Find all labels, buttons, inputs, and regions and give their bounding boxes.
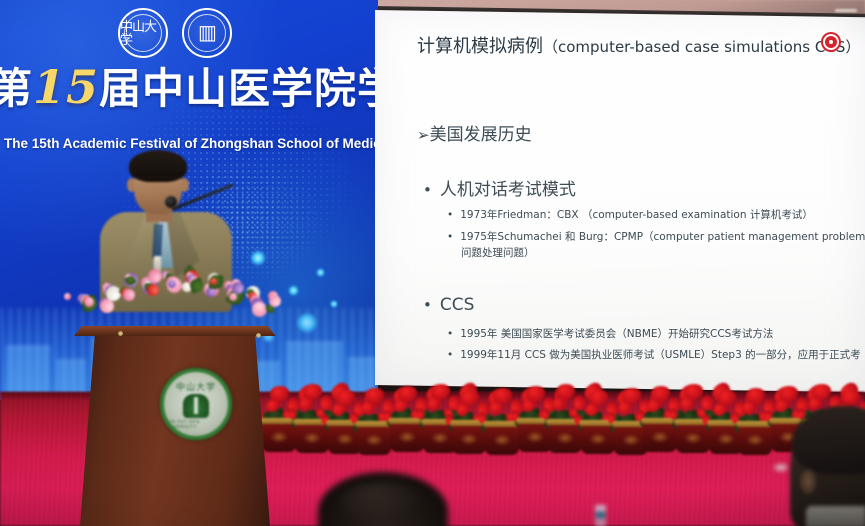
flower-pot	[390, 422, 424, 452]
microphone-head-icon	[165, 196, 177, 208]
conference-photo-scene: 中山大学 ▥ 第15届中山医学院学术节 The 15th Academic Fe…	[0, 0, 865, 526]
podium-flower-arrangement	[60, 243, 280, 338]
poinsettia-bloom	[398, 385, 418, 402]
bullet-marker: ➢	[417, 126, 430, 144]
slide-bullet-level3: •1995年 美国国家医学考试委员会（NBME）开始研究CCS考试方法	[447, 326, 773, 341]
podium-university-emblem-icon: 中山大学 SUN YAT-SEN UNIVERSITY	[160, 368, 232, 440]
seal-glyph: ▥	[184, 10, 230, 56]
water-bottle	[595, 505, 606, 526]
flower-pot	[485, 425, 519, 455]
bullet-marker: •	[423, 296, 432, 314]
banner-logo-row: 中山大学 ▥	[118, 8, 232, 58]
poinsettia-bloom	[431, 383, 451, 400]
audience-right-collar	[806, 506, 865, 526]
poinsettia-bloom	[526, 385, 546, 402]
bullet-marker: •	[447, 328, 453, 340]
bullet-marker: •	[447, 231, 453, 243]
podium-flower	[64, 293, 71, 300]
audience-head-right-ear	[800, 470, 816, 494]
banner-title-prefix: 第	[0, 64, 33, 113]
poinsettia-bloom	[746, 387, 766, 404]
flower-pot	[676, 423, 710, 453]
poinsettia-bloom	[555, 383, 575, 400]
banner-title: 第15届中山医学院学术节	[0, 55, 370, 116]
emblem-cn-text: 中山大学	[176, 380, 216, 393]
banner-title-number: 15	[33, 60, 99, 114]
poinsettia-bloom	[288, 409, 296, 420]
poinsettia-bloom	[541, 409, 549, 420]
poinsettia-bloom	[650, 385, 670, 402]
poinsettia-bloom	[841, 389, 861, 406]
flower-pot	[357, 425, 391, 455]
poinsettia-bloom	[365, 387, 385, 404]
poinsettia-bloom	[493, 387, 513, 404]
poinsettia-bloom	[269, 385, 289, 402]
presentation-slide: 计算机模拟病例（computer-based case simulations …	[375, 10, 865, 392]
frame-highlight	[835, 9, 857, 12]
foreground-object	[773, 463, 789, 472]
poinsettia-bloom	[588, 389, 608, 406]
slide-title-en: （computer-based case simulations CCS）	[543, 38, 860, 56]
poinsettia-bloom	[811, 383, 831, 400]
bullet-text: 1975年Schumachei 和 Burg：CPMP（computer pat…	[460, 231, 865, 243]
speaker-glasses	[133, 177, 183, 188]
flower-pot	[643, 422, 677, 452]
slide-bullet-continuation: 问题处理问题）	[461, 245, 535, 260]
slide-bullet-level2: •人机对话考试模式	[423, 175, 576, 200]
poinsettia-bloom	[683, 383, 703, 400]
flower-pot	[738, 425, 772, 455]
poinsettia-bloom	[621, 387, 641, 404]
flower-pot	[262, 422, 296, 452]
slide-title-cn: 计算机模拟病例	[417, 36, 543, 57]
bullet-text: 人机对话考试模式	[440, 180, 576, 200]
slide-bullet-level1: ➢美国发展历史	[417, 120, 532, 145]
slide-bullet-level3: •1975年Schumachei 和 Burg：CPMP（computer pa…	[447, 229, 865, 244]
seal-glyph: 中山大学	[120, 10, 166, 56]
poinsettia-bloom	[460, 389, 480, 406]
flower-pot	[548, 423, 582, 453]
bullet-marker: •	[423, 181, 432, 199]
banner-subtitle: The 15th Academic Festival of Zhongshan …	[4, 136, 374, 151]
banner-title-suffix: 届中山医学院学术节	[99, 64, 378, 113]
zhongshan-school-of-medicine-seal-icon: ▥	[182, 8, 232, 58]
bullet-text: 1973年Friedman：CBX （computer-based examin…	[460, 209, 813, 221]
poinsettia-bloom	[335, 389, 355, 406]
poinsettia-bloom	[302, 383, 322, 400]
sun-yat-sen-university-seal-icon: 中山大学	[118, 8, 168, 58]
poinsettia-bloom	[716, 389, 736, 406]
slide-bullet-level2: •CCS	[423, 295, 474, 315]
poinsettia-bloom	[700, 395, 714, 412]
emblem-tree-glyph	[183, 394, 209, 418]
red-target-logo-icon	[821, 32, 841, 52]
banner-glow-dot	[330, 300, 338, 308]
banner-glow-dot	[288, 285, 299, 296]
slide-bullet-level3: •1973年Friedman：CBX （computer-based exami…	[447, 207, 813, 222]
poinsettia-bloom	[778, 385, 798, 402]
bullet-marker: •	[447, 209, 453, 221]
emblem-en-text: SUN YAT-SEN UNIVERSITY	[164, 419, 228, 429]
slide-title: 计算机模拟病例（computer-based case simulations …	[417, 32, 847, 58]
poinsettia-bloom	[669, 409, 677, 420]
bullet-text: 美国发展历史	[430, 125, 532, 145]
bullet-text: 1995年 美国国家医学考试委员会（NBME）开始研究CCS考试方法	[460, 328, 773, 340]
poinsettia-row	[262, 352, 865, 472]
bullet-text: CCS	[440, 295, 475, 315]
poinsettia-bloom	[417, 409, 425, 420]
banner-glow-dot	[316, 268, 325, 277]
